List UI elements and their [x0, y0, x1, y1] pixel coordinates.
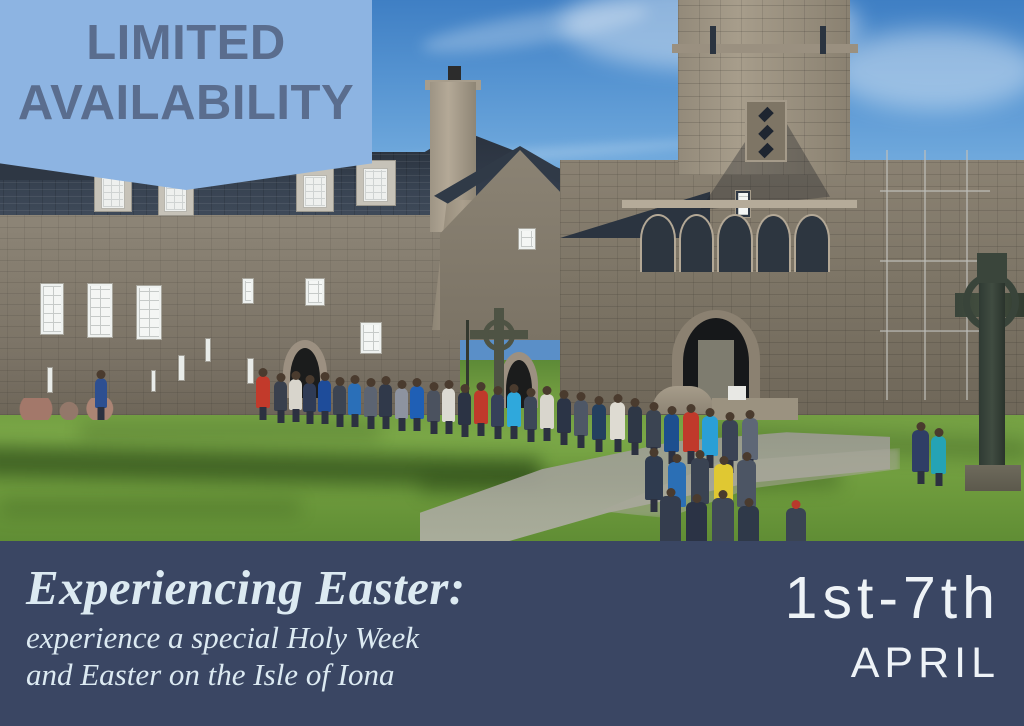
event-date-block: 1st-7th APRIL — [785, 541, 1024, 685]
event-date-month: APRIL — [785, 642, 1000, 685]
person — [540, 394, 554, 429]
person — [491, 394, 504, 427]
dormer-window — [101, 177, 125, 209]
string-course — [622, 200, 857, 208]
person — [458, 392, 471, 425]
person — [738, 506, 759, 545]
window — [136, 285, 162, 340]
banner-text-block: Experiencing Easter: experience a specia… — [0, 541, 465, 693]
window — [40, 283, 64, 335]
event-subline-1: experience a special Holy Week — [26, 620, 465, 657]
window-slit — [151, 370, 156, 392]
arched-window — [794, 214, 830, 272]
window — [242, 278, 254, 304]
window-slit — [47, 367, 53, 393]
arched-window — [679, 214, 715, 272]
person — [683, 412, 699, 452]
person — [702, 416, 718, 456]
person — [646, 410, 661, 448]
person — [274, 381, 287, 411]
person — [442, 388, 455, 422]
person — [660, 496, 681, 544]
person — [333, 385, 346, 415]
person — [610, 402, 625, 440]
arched-window — [717, 214, 753, 272]
person — [524, 396, 537, 430]
person — [95, 378, 107, 408]
dormer-window — [303, 175, 327, 208]
badge-line-1: LIMITED — [86, 14, 285, 74]
person — [574, 400, 588, 436]
tower-cornice — [672, 44, 858, 53]
window — [360, 322, 382, 354]
window — [87, 283, 113, 338]
person — [474, 390, 488, 424]
tower-tracery-window — [745, 100, 787, 162]
limited-availability-badge: LIMITED AVAILABILITY — [0, 0, 372, 190]
person — [318, 380, 331, 412]
person — [628, 406, 642, 443]
lawn-shadow — [0, 498, 300, 516]
window — [305, 278, 325, 306]
person — [379, 384, 392, 417]
st-martins-celtic-cross — [955, 245, 1024, 500]
arched-window — [756, 214, 792, 272]
foreground-rocks — [14, 398, 124, 420]
arched-window — [640, 214, 676, 272]
person — [712, 498, 734, 545]
title-banner: Experiencing Easter: experience a specia… — [0, 541, 1024, 726]
person — [645, 456, 663, 500]
window — [518, 228, 536, 250]
promo-poster: LIMITED AVAILABILITY Experiencing Easter… — [0, 0, 1024, 726]
person — [557, 398, 571, 433]
person — [427, 390, 440, 422]
person — [592, 404, 606, 440]
person — [256, 376, 270, 408]
window-slit — [247, 358, 254, 384]
cloud — [830, 30, 1024, 110]
person — [348, 383, 361, 415]
tower-window-slit — [710, 26, 716, 54]
event-subline-2: and Easter on the Isle of Iona — [26, 657, 465, 694]
stone-texture — [0, 215, 460, 415]
event-headline: Experiencing Easter: — [26, 563, 465, 614]
information-sign — [728, 386, 746, 400]
person — [664, 414, 679, 452]
arcade-window-row — [640, 214, 830, 272]
person — [289, 379, 302, 410]
lawn-shadow — [80, 424, 380, 440]
person — [303, 383, 316, 412]
person — [786, 508, 806, 545]
person — [686, 502, 707, 545]
person — [931, 436, 946, 474]
event-date-range: 1st-7th — [785, 569, 1000, 628]
window-slit — [205, 338, 211, 362]
person — [364, 386, 377, 417]
person — [395, 388, 408, 419]
person — [912, 430, 929, 472]
person — [410, 386, 424, 419]
tower-window-slit — [820, 26, 826, 54]
badge-line-2: AVAILABILITY — [18, 74, 354, 134]
person — [507, 392, 521, 427]
dormer-window — [363, 168, 388, 202]
person — [722, 420, 738, 461]
window-slit — [178, 355, 185, 381]
